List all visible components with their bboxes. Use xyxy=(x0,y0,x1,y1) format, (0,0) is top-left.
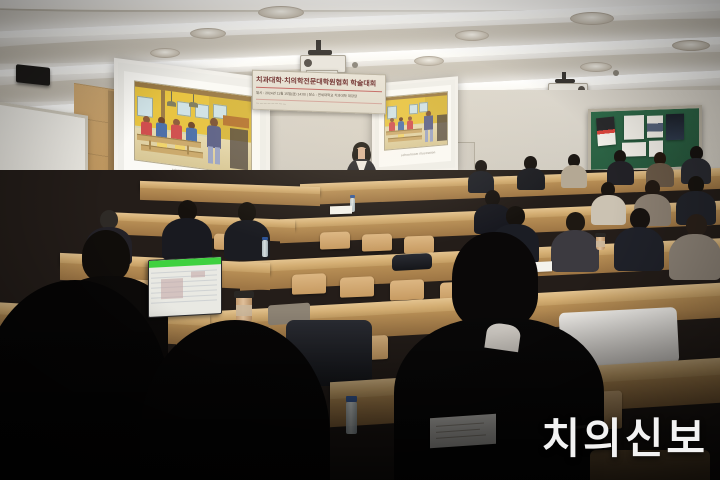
audience-member xyxy=(485,190,500,206)
wall-speaker xyxy=(16,64,50,86)
ceiling-speaker xyxy=(258,6,304,19)
audience-member xyxy=(601,182,615,197)
ceiling-speaker xyxy=(580,62,612,72)
desk-row xyxy=(140,184,320,210)
slide-illustration xyxy=(134,80,252,176)
audience-member xyxy=(524,156,537,170)
audience-member xyxy=(688,176,704,193)
board-poster xyxy=(666,114,684,141)
audience-member xyxy=(630,208,650,229)
paper-handout xyxy=(330,206,352,215)
watermark: 치의신보 xyxy=(541,405,708,466)
lecture-hall-photo: schoolroom illustration xyxy=(0,0,720,480)
water-bottle xyxy=(262,240,268,257)
bag xyxy=(392,253,432,271)
ceiling-speaker xyxy=(672,40,710,51)
attendee-with-tablet xyxy=(82,230,130,282)
ceiling-speaker xyxy=(570,12,614,25)
audience-member xyxy=(690,146,703,160)
audience-member xyxy=(566,212,585,232)
ceiling-speaker xyxy=(455,30,489,41)
conference-banner: 치과대학·치의학전문대학원협회 학술대회 일시 : 2024년 11월 15일(… xyxy=(252,70,386,115)
audience-member xyxy=(568,154,580,167)
water-bottle xyxy=(346,402,357,434)
ceiling-speaker xyxy=(150,48,180,58)
sprinkler-head xyxy=(613,70,619,76)
banner-subtitle: 일시 : 2024년 11월 15일(금) 14:00 | 장소 : 연세대학교… xyxy=(256,90,357,99)
audience-member xyxy=(238,202,256,222)
ceiling-speaker xyxy=(414,56,444,66)
audience-member xyxy=(475,160,487,173)
audience-member xyxy=(686,214,707,236)
slide-caption: schoolroom illustration xyxy=(401,150,435,157)
tablet-device[interactable] xyxy=(148,256,222,318)
paper-handout xyxy=(430,414,496,449)
audience-member xyxy=(178,200,197,221)
board-poster xyxy=(596,116,616,146)
spreadsheet-green-header xyxy=(149,257,221,268)
audience-member xyxy=(100,210,118,229)
board-poster xyxy=(647,115,663,138)
foreground-attendee-with-phone xyxy=(452,232,538,328)
sprinkler-head xyxy=(352,62,358,68)
audience-member xyxy=(614,150,626,163)
ceiling-speaker xyxy=(190,28,226,39)
audience-member xyxy=(645,180,660,196)
board-poster xyxy=(624,115,644,140)
audience-member xyxy=(506,206,525,226)
audience-member xyxy=(654,152,666,165)
